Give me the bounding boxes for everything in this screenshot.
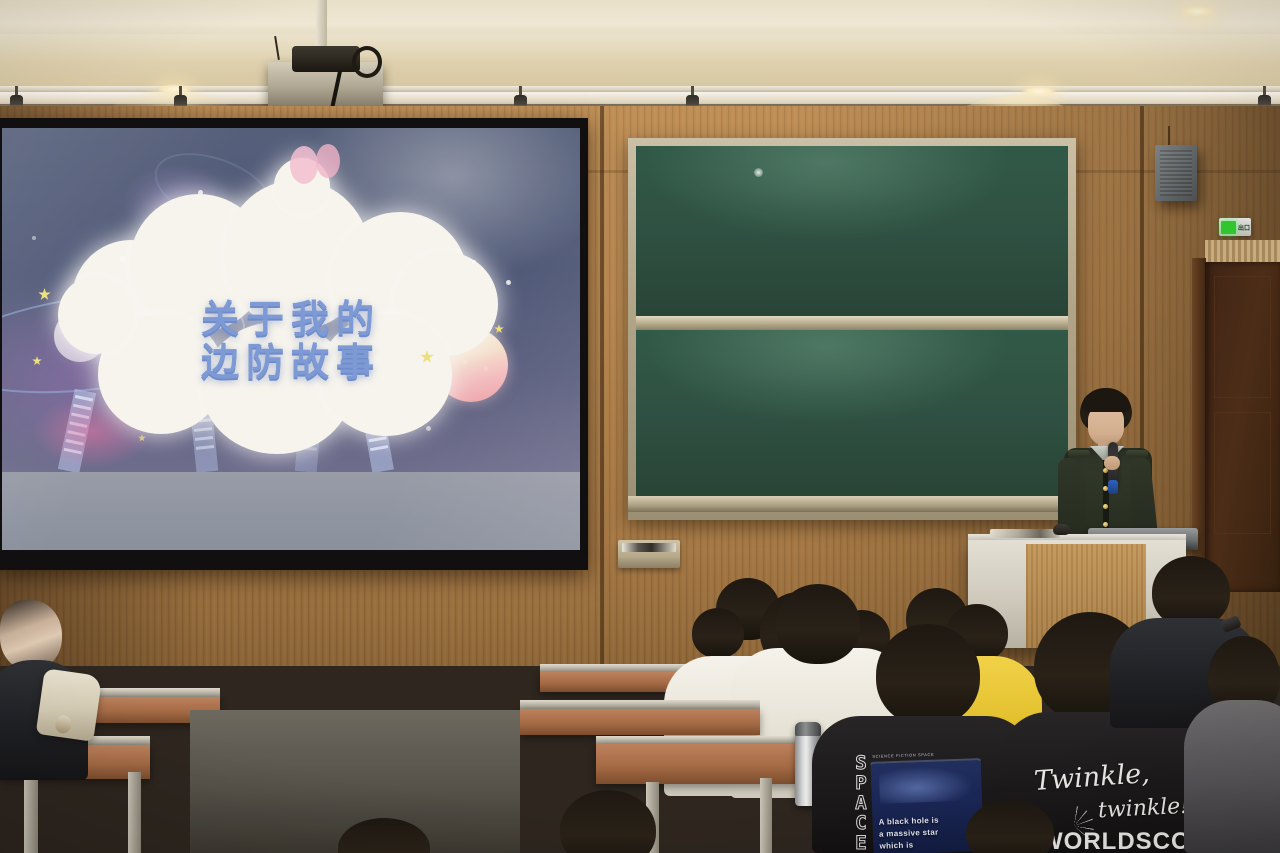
door-panel-lower (1214, 412, 1271, 534)
cloud-ear-right (316, 144, 340, 178)
student-body-right-2 (1184, 700, 1280, 853)
presenter-hand-mic (1104, 456, 1120, 470)
shelf-items (622, 543, 676, 552)
projector-cable-loop (352, 46, 382, 78)
slide-title: 关于我的 边防故事 (2, 298, 580, 383)
slide-title-line-1: 关于我的 (2, 298, 580, 341)
tshirt-twinkle-line-3: WORLDSCOP (1040, 828, 1207, 853)
thermos-cap (795, 722, 821, 736)
tshirt-twinkle-line-1: Twinkle, (1033, 758, 1151, 797)
tshirt-nebula (879, 764, 974, 803)
screen-lower-blank (2, 472, 580, 550)
presenter-fringe (1082, 392, 1130, 412)
presenter (1056, 388, 1160, 548)
computer-mouse[interactable] (1053, 524, 1070, 535)
wall-speaker-icon (1155, 145, 1197, 201)
downlight-2 (1022, 86, 1056, 97)
star-dot-3 (506, 280, 511, 285)
desk-leg-3 (24, 776, 38, 853)
uniform-button-3 (1103, 504, 1108, 509)
student-head-b4 (692, 608, 744, 658)
projector-body-top (292, 46, 360, 72)
exit-sign-icon: 出口 (1219, 218, 1251, 236)
microphone-band (1108, 480, 1118, 494)
downlight-3 (1181, 6, 1215, 17)
star-dot-5 (426, 426, 431, 431)
star-dot-4 (472, 260, 476, 264)
wall-shelf-box (618, 540, 680, 568)
tshirt-line-1: A black hole is (879, 814, 979, 826)
blackboard-chalk-ledge (628, 496, 1076, 512)
door-transom (1205, 240, 1280, 262)
presenter-epaulet-left (1068, 450, 1090, 457)
tshirt-twinkle-line-2: twinkle! (1097, 794, 1189, 824)
blackboard-highlight (754, 168, 763, 177)
door-panel-upper (1214, 276, 1271, 398)
tote-bag (36, 668, 103, 741)
star-dot-1 (198, 190, 203, 195)
podium-items (990, 529, 1060, 538)
bag-charm (54, 714, 72, 734)
blackboard-panel-lower[interactable] (636, 330, 1068, 496)
star-dot-6 (32, 236, 36, 240)
projection-screen-frame: 关于我的 边防故事 (0, 118, 588, 570)
tshirt-line-3: which is (879, 838, 979, 850)
cloud-ear-left (290, 146, 318, 184)
blackboard-rail (636, 316, 1068, 330)
blackboard-panel-upper[interactable] (636, 146, 1068, 318)
speaker-grill (1160, 150, 1192, 196)
exit-sign-label: 出口 (1238, 223, 1250, 232)
uniform-button-4 (1103, 522, 1108, 527)
presentation-slide: 关于我的 边防故事 (2, 128, 580, 472)
projection-screen: 关于我的 边防故事 (2, 128, 580, 550)
student-head-front-a (560, 790, 656, 853)
slide-title-line-2: 边防故事 (2, 341, 580, 384)
tshirt-side-text: SPACE (836, 752, 872, 853)
lecture-hall-photo: 出口 (0, 0, 1280, 853)
desk-leg-2 (760, 778, 772, 853)
desk-mid (520, 709, 760, 735)
desk-leg-4 (128, 772, 141, 853)
student-head-blackhole (876, 624, 980, 726)
classroom-door[interactable] (1205, 262, 1280, 592)
blackboard (628, 138, 1076, 520)
star-dot-2 (120, 256, 126, 262)
student-head-white-2 (776, 584, 860, 664)
blackboard-inner (636, 146, 1068, 496)
exit-lamp (1221, 221, 1236, 234)
tshirt-line-2: a massive star (879, 826, 979, 838)
presenter-epaulet-right (1126, 450, 1148, 457)
